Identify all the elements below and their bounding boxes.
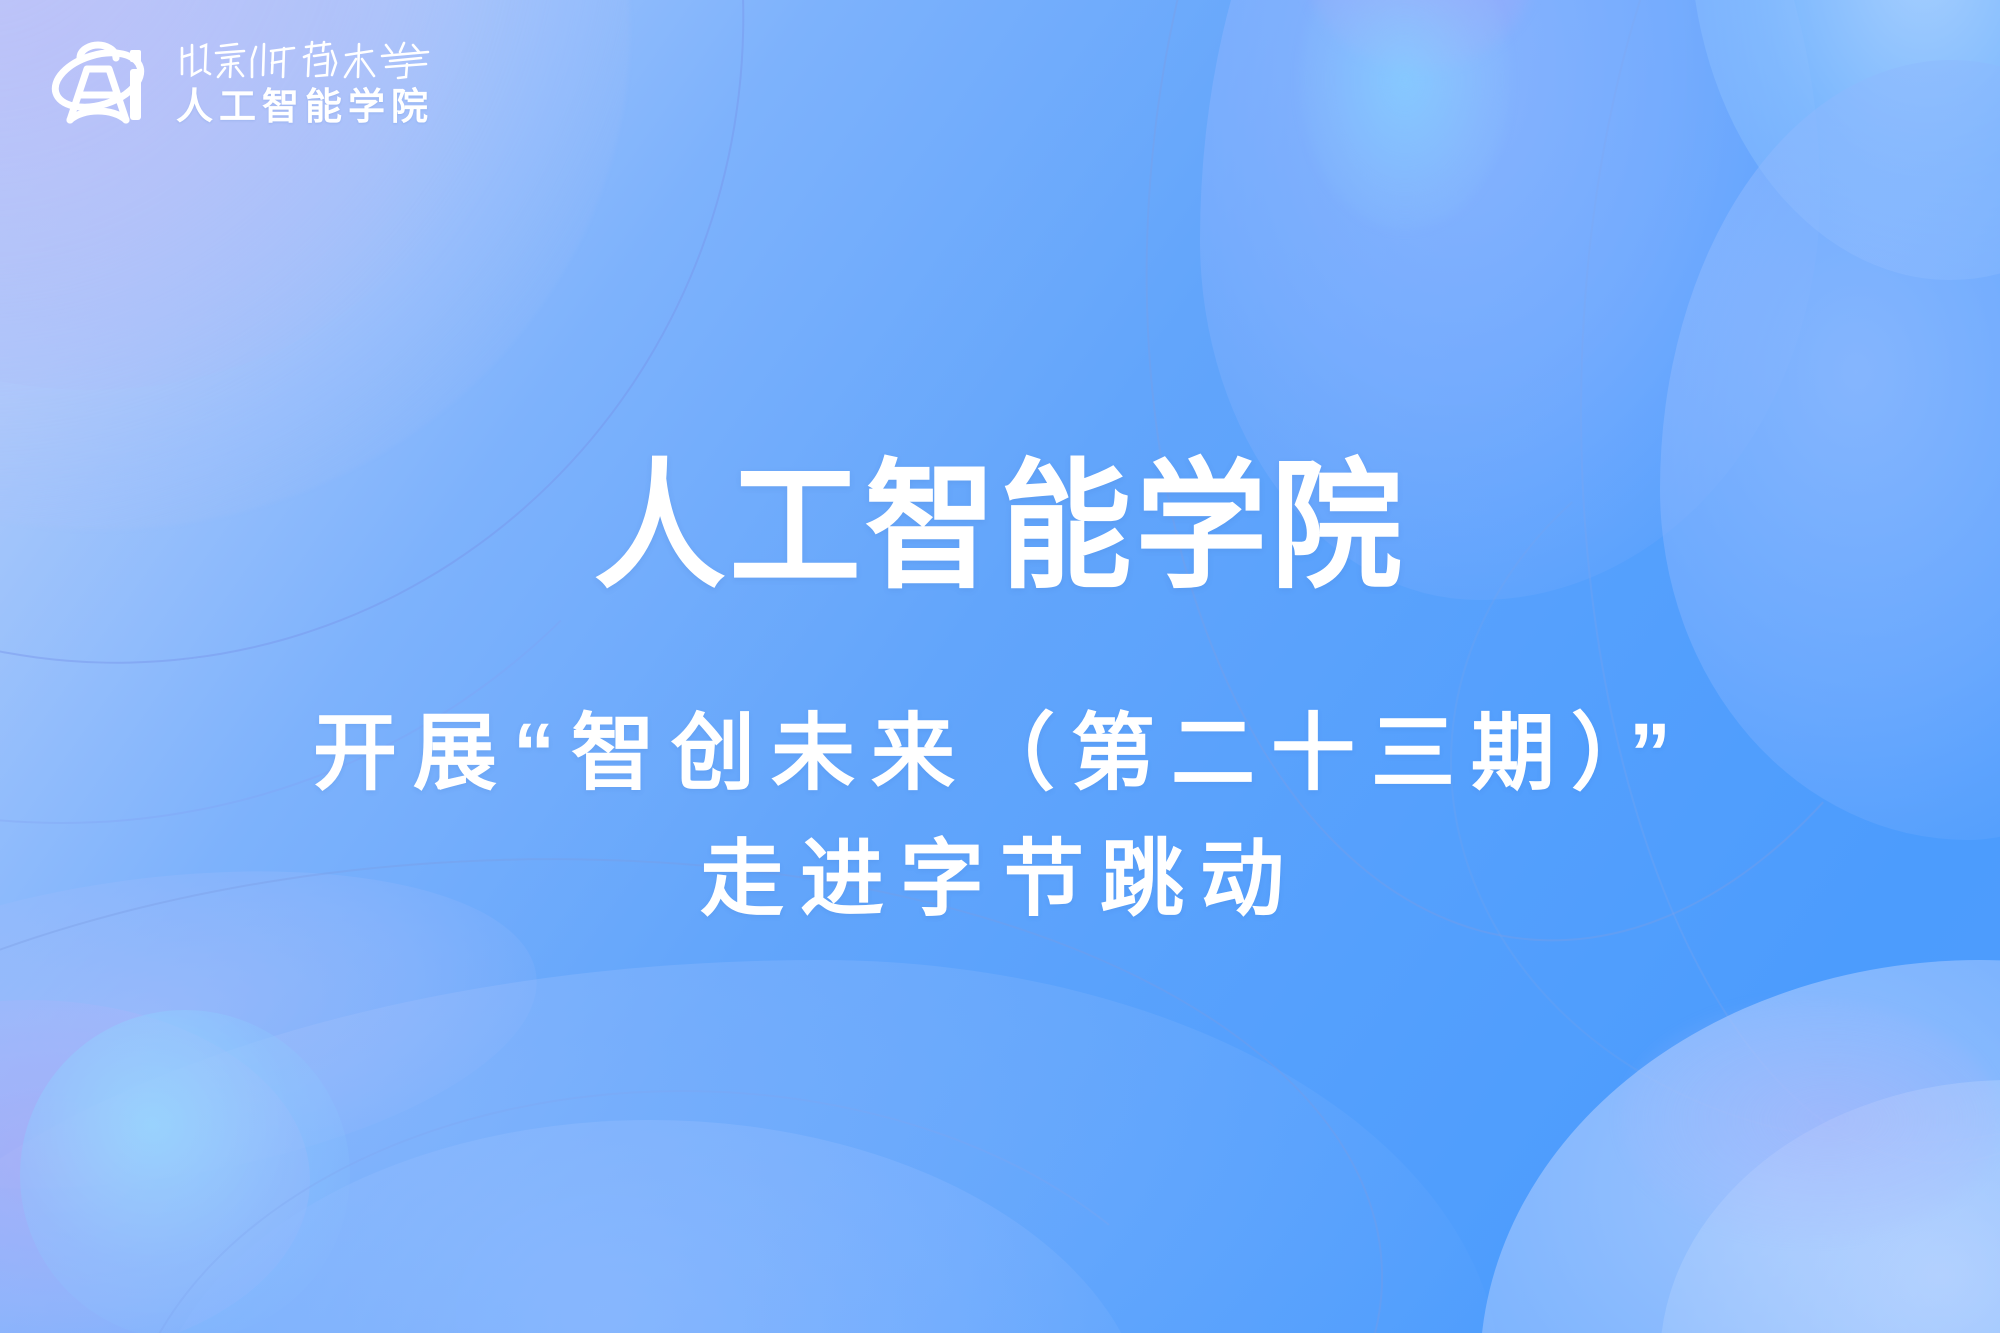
logo-university-name xyxy=(176,39,438,83)
logo-lockup: 人工智能学院 xyxy=(46,28,438,136)
poster-canvas: 人工智能学院 人工智能学院 开展“智创未来（第二十三期）” 走进字节跳动 xyxy=(0,0,2000,1333)
subtitle-line-1: 开展“智创未来（第二十三期）” xyxy=(0,690,2000,816)
subtitle-block: 开展“智创未来（第二十三期）” 走进字节跳动 xyxy=(0,690,2000,942)
page-title: 人工智能学院 xyxy=(60,452,1940,602)
subtitle-line-2: 走进字节跳动 xyxy=(0,816,2000,942)
logo-school-name: 人工智能学院 xyxy=(176,85,438,129)
logo-text-block: 人工智能学院 xyxy=(176,35,438,129)
bnu-ai-school-emblem-icon xyxy=(46,28,154,136)
